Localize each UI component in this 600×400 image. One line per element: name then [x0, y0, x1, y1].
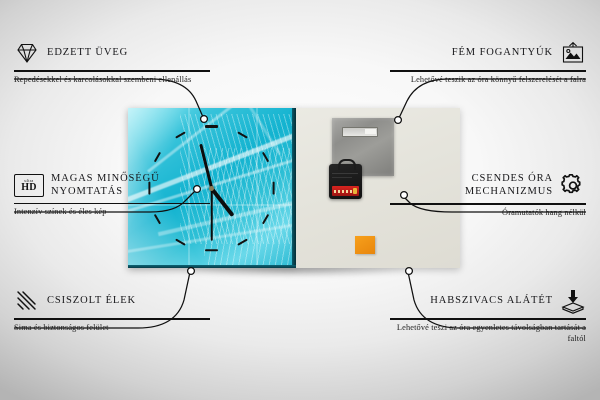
callout-description: Sima és biztonságos felület: [14, 323, 210, 334]
battery-label-bars: [334, 190, 352, 193]
ultra-hd-icon: ultra HD: [14, 174, 44, 197]
callout-title: CSISZOLT ÉLEK: [47, 295, 136, 308]
hd-badge-large: HD: [21, 183, 37, 193]
callout-description: Intenzív színek és éles kép: [14, 207, 210, 218]
infographic-canvas: EDZETT ÜVEG Repedésekkel és karcolásokka…: [0, 0, 600, 400]
callout-rule: [14, 70, 210, 72]
mechanism-ridge: [332, 173, 358, 174]
callout-foam-backing[interactable]: HABSZIVACS ALÁTÉT Lehetővé teszi az óra …: [390, 288, 586, 344]
callout-high-quality-print[interactable]: ultra HD MAGAS MINŐSÉGŰ NYOMTATÁS Intenz…: [14, 173, 210, 218]
clock-tick: [272, 182, 274, 195]
callout-tempered-glass[interactable]: EDZETT ÜVEG Repedésekkel és karcolásokka…: [14, 40, 210, 86]
callout-description: Lehetővé teszik az óra könnyű felszerelé…: [390, 75, 586, 86]
gear-icon: [560, 173, 586, 199]
callout-description: Repedésekkel és karcolásokkal szembeni e…: [14, 75, 210, 86]
clock-tick: [205, 125, 218, 127]
callout-header: CSISZOLT ÉLEK: [14, 288, 210, 314]
callout-polished-edges[interactable]: CSISZOLT ÉLEK Sima és biztonságos felüle…: [14, 288, 210, 334]
picture-hanger-icon: [560, 40, 586, 66]
callout-metal-handles[interactable]: FÉM FOGANTYÚK Lehetővé teszik az óra kön…: [390, 40, 586, 86]
callout-rule: [390, 318, 586, 320]
callout-rule: [14, 318, 210, 320]
callout-silent-mechanism[interactable]: CSENDES ÓRA MECHANIZMUS Óramutatók hang …: [390, 173, 586, 219]
callout-rule: [390, 70, 586, 72]
callout-header: ultra HD MAGAS MINŐSÉGŰ NYOMTATÁS: [14, 173, 210, 199]
callout-rule: [390, 203, 586, 205]
second-hand: [211, 189, 213, 241]
battery: [332, 186, 359, 196]
glass-seam: [256, 108, 258, 268]
foam-pad: [355, 236, 375, 254]
callout-description: Óramutatók hang nélkül: [390, 208, 586, 219]
mechanism-ridge: [332, 177, 352, 178]
foam-pad-icon: [560, 288, 586, 314]
callout-title: EDZETT ÜVEG: [47, 47, 128, 60]
polished-edges-icon: [14, 288, 40, 314]
glass-edge-bottom: [128, 265, 296, 268]
hanger-slot: [342, 127, 378, 137]
callout-header: CSENDES ÓRA MECHANIZMUS: [390, 173, 586, 199]
diamond-icon: [14, 40, 40, 66]
callout-title: HABSZIVACS ALÁTÉT: [430, 295, 553, 308]
callout-header: HABSZIVACS ALÁTÉT: [390, 288, 586, 314]
callout-header: FÉM FOGANTYÚK: [390, 40, 586, 66]
callout-rule: [14, 203, 210, 205]
clock-mechanism: [329, 164, 362, 199]
callout-title: CSENDES ÓRA MECHANIZMUS: [390, 173, 553, 199]
mechanism-hook: [338, 159, 356, 170]
callout-description: Lehetővé teszi az óra egyenletes távolsá…: [390, 323, 586, 345]
callout-title: MAGAS MINŐSÉGŰ NYOMTATÁS: [51, 173, 210, 199]
callout-title: FÉM FOGANTYÚK: [452, 47, 553, 60]
callout-header: EDZETT ÜVEG: [14, 40, 210, 66]
